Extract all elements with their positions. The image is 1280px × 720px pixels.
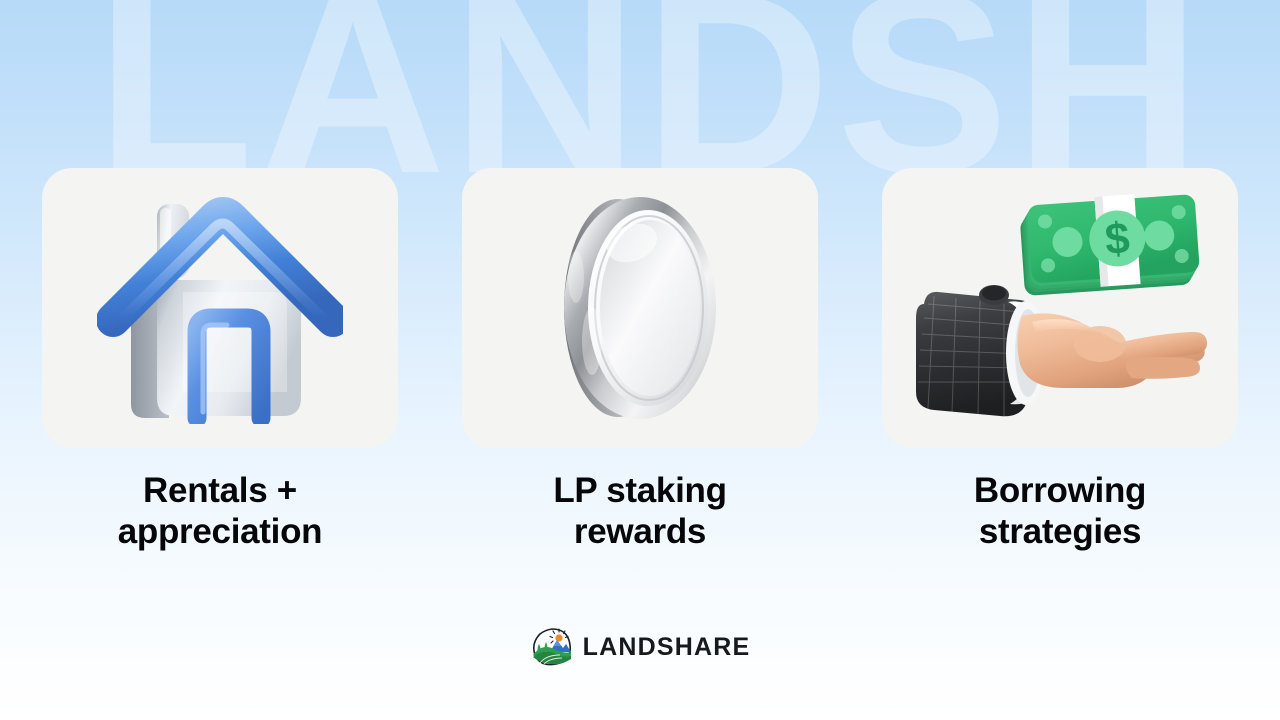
- card-title-rentals: Rentals + appreciation: [42, 470, 398, 552]
- feature-titles-row: Rentals + appreciation LP staking reward…: [42, 470, 1238, 552]
- feature-card-rentals[interactable]: [42, 168, 398, 448]
- house-3d-icon: [97, 192, 343, 424]
- landshare-logo-text: LANDSHARE: [583, 633, 751, 662]
- hand-and-sleeve: [916, 285, 1207, 416]
- feature-card-lp-staking[interactable]: [462, 168, 818, 448]
- card-title-lp-staking: LP staking rewards: [462, 470, 818, 552]
- card-title-borrowing: Borrowing strategies: [882, 470, 1238, 552]
- landshare-landscape-icon: [530, 627, 574, 667]
- feature-cards-row: $: [42, 168, 1238, 448]
- svg-text:$: $: [1103, 214, 1131, 265]
- card-art-rentals: [42, 168, 398, 448]
- card-art-lp-staking: [462, 168, 818, 448]
- card-art-borrowing: $: [882, 168, 1238, 448]
- money-stack: $: [1019, 192, 1201, 296]
- landshare-logo[interactable]: LANDSHARE: [0, 627, 1280, 667]
- hand-with-money-3d-icon: $: [904, 192, 1216, 424]
- feature-card-borrowing[interactable]: $: [882, 168, 1238, 448]
- silver-coin-3d-icon: [546, 191, 734, 425]
